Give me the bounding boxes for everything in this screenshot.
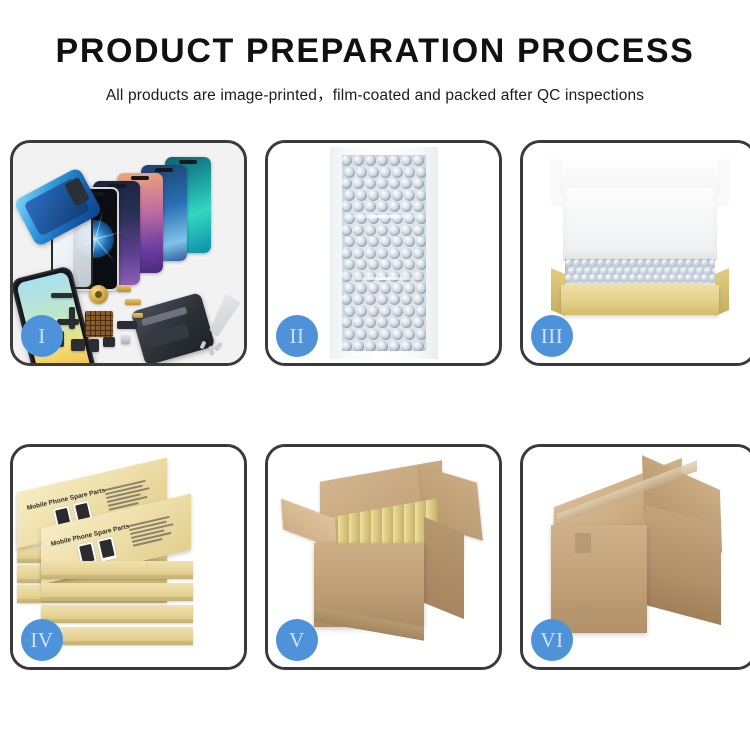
- bubble-cell-icon: [368, 283, 379, 294]
- step-badge-2: II: [276, 315, 318, 357]
- infographic-root: PRODUCT PREPARATION PROCESS All products…: [0, 0, 750, 750]
- page-title: PRODUCT PREPARATION PROCESS: [0, 0, 750, 68]
- flex-cable-gold-part-icon: [117, 285, 131, 292]
- bubble-cell-icon: [380, 190, 391, 201]
- bubble-cell-icon: [677, 274, 685, 282]
- bubble-cell-icon: [365, 341, 376, 351]
- bubble-cell-icon: [368, 259, 379, 270]
- bubble-cell-icon: [669, 259, 677, 267]
- bubble-cell-icon: [573, 274, 581, 282]
- bubble-cell-icon: [380, 236, 391, 247]
- bubble-cell-icon: [581, 274, 589, 282]
- bubble-cell-icon: [342, 341, 352, 351]
- bubble-cell-icon: [645, 274, 653, 282]
- bubble-cell-icon: [401, 201, 412, 212]
- bubble-cell-icon: [368, 329, 379, 340]
- bubble-cell-icon: [368, 190, 379, 201]
- bubble-cell-icon: [353, 225, 364, 236]
- bubble-cell-icon: [356, 329, 367, 340]
- bubble-cell-icon: [401, 317, 412, 328]
- ic-chip-grid-icon: [85, 311, 113, 337]
- bubble-cell-icon: [342, 225, 352, 236]
- bubble-cell-icon: [344, 283, 355, 294]
- bubble-cell-icon: [416, 236, 426, 247]
- bubble-cell-icon: [353, 341, 364, 351]
- bubble-cell-icon: [342, 178, 352, 189]
- step-badge-3: III: [531, 315, 573, 357]
- mailer-front-panel-icon: [561, 285, 719, 315]
- bubble-cell-icon: [389, 294, 400, 305]
- bubble-cell-icon: [368, 236, 379, 247]
- bubble-cell-icon: [597, 259, 605, 267]
- bubble-cell-icon: [380, 329, 391, 340]
- bubble-cell-icon: [392, 190, 403, 201]
- bubble-cell-icon: [416, 190, 426, 201]
- bubble-cell-icon: [413, 248, 424, 259]
- bubble-cell-icon: [389, 248, 400, 259]
- speaker-module-part-icon: [71, 339, 85, 351]
- bubble-cell-icon: [404, 259, 415, 270]
- process-grid: I II: [10, 140, 740, 748]
- step-badge-6: VI: [531, 619, 573, 661]
- bubble-cell-icon: [661, 274, 669, 282]
- wireless-charging-coil-icon: [89, 285, 108, 304]
- bubble-cell-icon: [669, 274, 677, 282]
- bubble-cell-icon: [685, 274, 693, 282]
- sealed-carton-front-face-icon: [551, 525, 647, 633]
- process-step-5[interactable]: V: [265, 444, 502, 670]
- bubble-cell-icon: [377, 317, 388, 328]
- bubble-cell-icon: [342, 248, 352, 259]
- bubble-cell-icon: [404, 190, 415, 201]
- bubble-cell-icon: [368, 167, 379, 178]
- bubble-cell-icon: [392, 329, 403, 340]
- bubble-cell-icon: [353, 248, 364, 259]
- bubble-cell-icon: [613, 274, 621, 282]
- bubble-cell-icon: [365, 317, 376, 328]
- step-badge-4: IV: [21, 619, 63, 661]
- bubble-cell-icon: [377, 178, 388, 189]
- header: PRODUCT PREPARATION PROCESS All products…: [0, 0, 750, 105]
- bubble-cell-icon: [605, 274, 613, 282]
- bubble-cell-icon: [629, 259, 637, 267]
- bubble-cell-icon: [380, 283, 391, 294]
- bubble-cell-icon: [565, 274, 573, 282]
- bubble-cell-icon: [589, 259, 597, 267]
- bubble-cell-icon: [709, 259, 715, 267]
- bubble-cell-icon: [565, 259, 573, 267]
- bubble-cell-icon: [416, 329, 426, 340]
- bubble-cell-icon: [392, 167, 403, 178]
- bubble-cell-icon: [413, 317, 424, 328]
- bubble-cell-icon: [661, 259, 669, 267]
- bubble-cell-icon: [342, 201, 352, 212]
- vibrator-motor-part-icon: [89, 339, 99, 352]
- bubble-cell-icon: [404, 236, 415, 247]
- bubble-cell-icon: [356, 167, 367, 178]
- bubble-cell-icon: [589, 274, 597, 282]
- bubble-cell-icon: [404, 283, 415, 294]
- bubble-cell-icon: [413, 155, 424, 166]
- antenna-flex-part-icon: [57, 319, 79, 325]
- bubble-cell-icon: [401, 155, 412, 166]
- screws-group-icon: [201, 341, 225, 357]
- process-step-6[interactable]: VI: [520, 444, 750, 670]
- carton-right-side-icon: [424, 517, 464, 619]
- page-subtitle: All products are image-printed，film-coat…: [0, 68, 750, 105]
- bubble-cell-icon: [413, 178, 424, 189]
- bubble-cell-icon: [377, 341, 388, 351]
- bubble-cell-icon: [353, 294, 364, 305]
- bubble-cell-icon: [380, 306, 391, 317]
- bubble-cell-icon: [416, 306, 426, 317]
- bubble-cell-icon: [365, 201, 376, 212]
- bubble-cell-icon: [377, 201, 388, 212]
- bubble-cell-icon: [416, 167, 426, 178]
- bubble-cell-icon: [344, 306, 355, 317]
- bubble-cell-icon: [581, 259, 589, 267]
- bubble-cell-icon: [413, 294, 424, 305]
- bubble-cell-icon: [401, 341, 412, 351]
- bubble-cell-icon: [621, 274, 629, 282]
- bubble-wrap-pouch-icon: [342, 155, 426, 351]
- packing-tape-front-upper-icon: [575, 533, 591, 553]
- bubble-cell-icon: [356, 283, 367, 294]
- bubble-cell-icon: [404, 306, 415, 317]
- bubble-cell-icon: [701, 259, 709, 267]
- bubble-cell-icon: [573, 259, 581, 267]
- bubble-cell-icon: [685, 259, 693, 267]
- step-badge-5: V: [276, 619, 318, 661]
- process-step-3[interactable]: III: [520, 140, 750, 366]
- bubble-cell-icon: [653, 259, 661, 267]
- process-step-4[interactable]: Mobile Phone Spare Parts Mobile Phone Sp…: [10, 444, 247, 670]
- earpiece-mesh-part-icon: [51, 293, 73, 298]
- bubble-cell-icon: [353, 155, 364, 166]
- bubble-cell-icon: [342, 155, 352, 166]
- bubble-cell-icon: [365, 178, 376, 189]
- bubble-cell-icon: [401, 248, 412, 259]
- sealed-carton-side-face-icon: [645, 505, 721, 625]
- camera-module-part-icon: [103, 337, 115, 347]
- charging-port-flex-part-icon: [117, 321, 137, 329]
- bubble-cell-icon: [392, 259, 403, 270]
- bubble-cell-icon: [701, 274, 709, 282]
- bubble-cell-icon: [677, 259, 685, 267]
- bubble-cell-icon: [342, 294, 352, 305]
- bubble-cell-icon: [389, 225, 400, 236]
- bubble-cell-icon: [356, 259, 367, 270]
- bubble-cell-icon: [368, 306, 379, 317]
- bubble-cell-icon: [401, 294, 412, 305]
- bubble-cell-icon: [404, 167, 415, 178]
- bubble-cell-icon: [637, 274, 645, 282]
- gold-contact-part-icon: [133, 313, 143, 318]
- bubble-cell-icon: [621, 259, 629, 267]
- bubble-cell-icon: [389, 341, 400, 351]
- bubble-cell-icon: [392, 283, 403, 294]
- bubble-cell-icon: [597, 274, 605, 282]
- process-step-1[interactable]: I: [10, 140, 247, 366]
- bubble-cell-icon: [413, 341, 424, 351]
- bubble-cell-icon: [693, 274, 701, 282]
- bubble-cell-icon: [389, 178, 400, 189]
- bubble-cell-icon: [404, 329, 415, 340]
- bubble-cell-icon: [356, 190, 367, 201]
- bubble-cell-icon: [645, 259, 653, 267]
- bubble-cell-icon: [401, 178, 412, 189]
- bubble-cell-icon: [356, 306, 367, 317]
- bubble-cell-icon: [365, 294, 376, 305]
- bubble-cell-icon: [377, 248, 388, 259]
- bubble-cell-icon: [653, 274, 661, 282]
- bubble-cell-icon: [344, 259, 355, 270]
- side-button-part-icon: [69, 307, 75, 329]
- pouch-seam-icon: [342, 277, 426, 280]
- bubble-cell-icon: [342, 317, 352, 328]
- bubble-cell-icon: [353, 317, 364, 328]
- bubble-cell-icon: [389, 201, 400, 212]
- bubble-cell-icon: [629, 274, 637, 282]
- bubble-cell-icon: [365, 155, 376, 166]
- screw-plate-part-icon: [121, 335, 130, 344]
- bubble-cell-icon: [389, 155, 400, 166]
- packing-tape-front-lower-icon: [575, 605, 591, 623]
- bubble-cell-icon: [353, 201, 364, 212]
- bubble-cell-icon: [613, 259, 621, 267]
- bubble-cell-icon: [380, 167, 391, 178]
- bubble-cell-icon: [344, 167, 355, 178]
- process-row-top: I II: [10, 140, 740, 366]
- bubble-cell-icon: [637, 259, 645, 267]
- bubble-cell-icon: [401, 225, 412, 236]
- bubble-cell-icon: [380, 259, 391, 270]
- bubble-cell-icon: [356, 236, 367, 247]
- pouch-seam-icon: [342, 215, 426, 218]
- process-step-2[interactable]: II: [265, 140, 502, 366]
- bubble-cell-icon: [392, 306, 403, 317]
- bubble-cell-icon: [344, 329, 355, 340]
- bubble-cell-icon: [377, 225, 388, 236]
- bubble-cell-icon: [416, 259, 426, 270]
- volume-flex-part-icon: [125, 299, 141, 305]
- bubble-cell-icon: [416, 283, 426, 294]
- bubble-cell-icon: [389, 317, 400, 328]
- bubble-cell-icon: [353, 178, 364, 189]
- bubble-cell-icon: [693, 259, 701, 267]
- bubble-cell-icon: [377, 155, 388, 166]
- bubble-cell-icon: [377, 294, 388, 305]
- bubble-cell-icon: [605, 259, 613, 267]
- bubble-cell-icon: [344, 190, 355, 201]
- bubble-cell-icon: [413, 201, 424, 212]
- step-badge-1: I: [21, 315, 63, 357]
- process-row-bottom: Mobile Phone Spare Parts Mobile Phone Sp…: [10, 444, 740, 670]
- bubble-cell-icon: [413, 225, 424, 236]
- bubble-cell-icon: [344, 236, 355, 247]
- bubble-cell-icon: [365, 225, 376, 236]
- mailer-inner-panel-icon: [563, 187, 717, 261]
- bubble-cell-icon: [365, 248, 376, 259]
- bubble-cell-icon: [392, 236, 403, 247]
